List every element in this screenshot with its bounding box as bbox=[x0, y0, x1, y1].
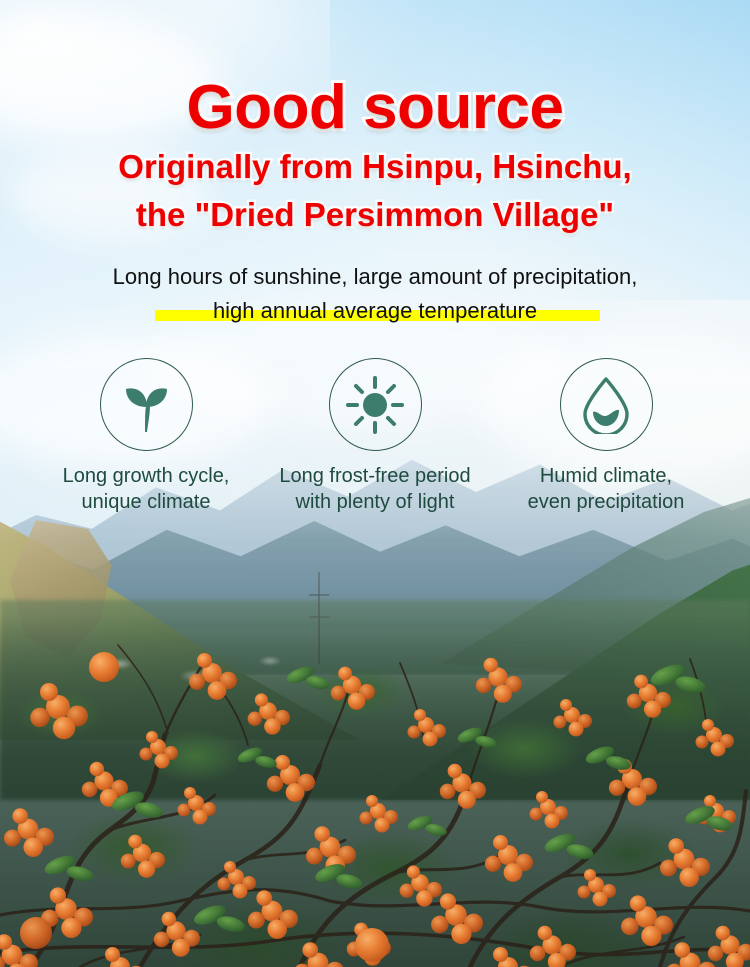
feature-item-frost-free: Long frost-free period with plenty of li… bbox=[250, 352, 500, 515]
water-drop-icon bbox=[560, 358, 653, 451]
poster-content: Good source Originally from Hsinpu, Hsin… bbox=[0, 0, 750, 967]
sprout-icon bbox=[100, 358, 193, 451]
feature-caption: Long frost-free period with plenty of li… bbox=[250, 463, 500, 515]
sun-icon bbox=[329, 358, 422, 451]
subheading-line-2: the "Dried Persimmon Village" bbox=[0, 196, 750, 234]
feature-row: Long growth cycle, unique climate bbox=[0, 352, 750, 522]
feature-caption: Long growth cycle, unique climate bbox=[21, 463, 271, 515]
promo-poster: Good source Originally from Hsinpu, Hsin… bbox=[0, 0, 750, 967]
tagline-line-2: high annual average temperature bbox=[0, 296, 750, 326]
tagline-line-1: Long hours of sunshine, large amount of … bbox=[0, 262, 750, 292]
feature-caption: Humid climate, even precipitation bbox=[481, 463, 731, 515]
subheading-line-1: Originally from Hsinpu, Hsinchu, bbox=[0, 148, 750, 186]
feature-item-humid-climate: Humid climate, even precipitation bbox=[481, 352, 731, 515]
page-title: Good source bbox=[0, 72, 750, 143]
feature-item-growth-cycle: Long growth cycle, unique climate bbox=[21, 352, 271, 515]
